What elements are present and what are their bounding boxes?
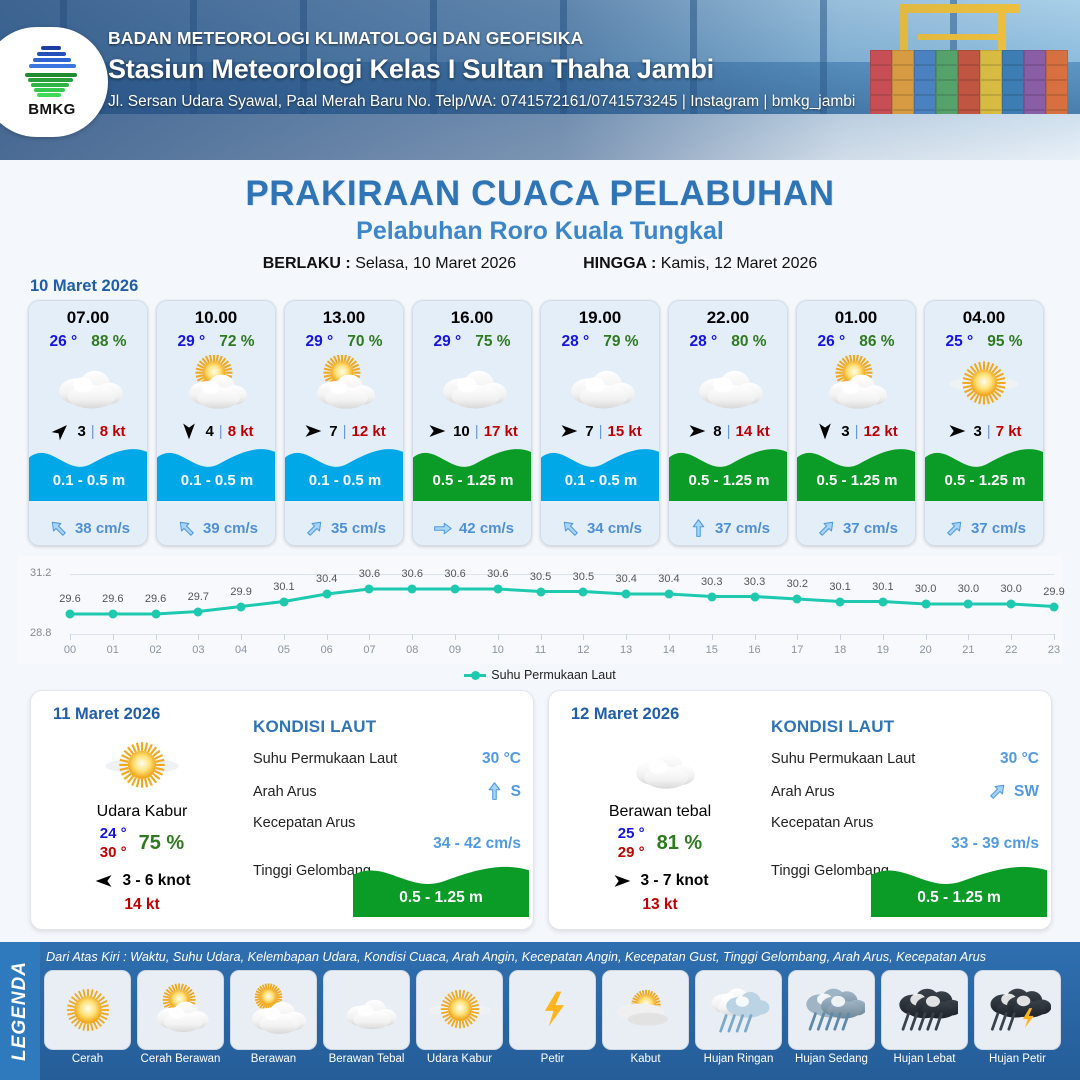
chart-value-label: 30.4 (658, 573, 679, 585)
chart-data-point (322, 590, 331, 599)
card-current-row: 37 cm/s (925, 518, 1044, 539)
page-title: PRAKIRAAN CUACA PELABUHAN (0, 174, 1080, 214)
header-text-block: BADAN METEOROLOGI KLIMATOLOGI DAN GEOFIS… (108, 28, 855, 111)
wind-direction-arrow-icon (302, 421, 324, 441)
wind-gust: 17 kt (484, 423, 518, 440)
day-forecast-panel: 12 Maret 2026 Berawan tebal 25 ° 29 ° 81… (548, 690, 1052, 930)
legend-item-label: Berawan (251, 1053, 296, 1065)
wind-speed: 3 (841, 423, 849, 440)
panel-sea-conditions: KONDISI LAUT Suhu Permukaan Laut 30 °C A… (771, 717, 1039, 879)
card-wind-row: 3 | 7 kt (925, 421, 1043, 441)
weather-cerah-berawan-icon (157, 355, 275, 413)
day-forecast-panel: 11 Maret 2026 Udara Kabur 24 ° 30 ° 75 %… (30, 690, 534, 930)
forecast-card: 16.00 29 ° 75 % 10 | 17 kt 0.5 - 1.25 m … (412, 300, 532, 546)
panel-temp-max: 30 ° (100, 844, 127, 861)
chart-value-label: 30.1 (872, 581, 893, 593)
forecast-card: 07.00 26 ° 88 % 3 | 8 kt 0.1 - 0.5 m 38 … (28, 300, 148, 546)
forecast-day-label: 10 Maret 2026 (30, 277, 138, 296)
legend-item-label: Petir (541, 1053, 565, 1065)
legenda-sidebar: LEGENDA (0, 942, 40, 1080)
chart-x-tick (926, 634, 927, 640)
panel-wind-range: 3 - 6 knot (122, 872, 190, 890)
legend-item: Hujan Sedang (788, 970, 875, 1070)
card-humidity: 95 % (987, 333, 1022, 351)
sst-value: 30 °C (1000, 750, 1039, 768)
forecast-card: 22.00 28 ° 80 % 8 | 14 kt 0.5 - 1.25 m 3… (668, 300, 788, 546)
sst-value: 30 °C (482, 750, 521, 768)
current-direction-arrow-icon (304, 518, 325, 539)
panel-temp-min: 24 ° (100, 825, 127, 842)
sst-chart: 31.228.829.60029.60129.60229.70329.90430… (18, 556, 1062, 664)
chart-x-tick (541, 634, 542, 640)
chart-legend: Suhu Permukaan Laut (0, 668, 1080, 682)
wave-height: 0.5 - 1.25 m (413, 472, 532, 489)
card-current-row: 38 cm/s (29, 518, 148, 539)
forecast-card: 10.00 29 ° 72 % 4 | 8 kt 0.1 - 0.5 m 39 … (156, 300, 276, 546)
chart-x-tick-label: 23 (1048, 644, 1060, 656)
wind-speed: 7 (329, 423, 337, 440)
current-direction-arrow-icon (944, 518, 965, 539)
card-humidity: 79 % (603, 333, 638, 351)
station-name: Stasiun Meteorologi Kelas I Sultan Thaha… (108, 54, 855, 85)
legend-item: Cerah Berawan (137, 970, 224, 1070)
sst-label: Suhu Permukaan Laut (253, 751, 397, 767)
panel-condition: Berawan tebal (565, 803, 755, 821)
page-header: BMKG BADAN METEOROLOGI KLIMATOLOGI DAN G… (0, 0, 1080, 160)
current-direction-arrow-icon (560, 518, 581, 539)
weather-berawan-icon (29, 355, 147, 413)
chart-value-label: 30.3 (744, 576, 765, 588)
current-direction-label: Arah Arus (771, 784, 835, 800)
chart-x-tick (327, 634, 328, 640)
current-speed: 37 cm/s (971, 520, 1026, 537)
chart-data-point (151, 610, 160, 619)
wind-speed: 8 (713, 423, 721, 440)
chart-x-tick (1011, 634, 1012, 640)
card-temp-humidity-row: 26 ° 88 % (29, 333, 147, 351)
chart-x-tick (583, 634, 584, 640)
card-wind-row: 7 | 12 kt (285, 421, 403, 441)
chart-x-tick (284, 634, 285, 640)
chart-x-tick (369, 634, 370, 640)
chart-data-point (451, 585, 460, 594)
chart-x-tick (840, 634, 841, 640)
chart-value-label: 30.1 (829, 581, 850, 593)
chart-data-point (836, 597, 845, 606)
chart-x-tick-label: 22 (1005, 644, 1017, 656)
legend-item: Hujan Petir (974, 970, 1061, 1070)
valid-until-value: Kamis, 12 Maret 2026 (661, 255, 818, 272)
wind-separator: | (475, 423, 479, 440)
chart-x-tick (241, 634, 242, 640)
chart-x-tick-label: 18 (834, 644, 846, 656)
wind-speed: 4 (205, 423, 213, 440)
current-speed: 34 cm/s (587, 520, 642, 537)
sst-row: Suhu Permukaan Laut 30 °C (253, 750, 521, 768)
card-temp-humidity-row: 28 ° 79 % (541, 333, 659, 351)
wind-gust: 12 kt (352, 423, 386, 440)
card-humidity: 86 % (859, 333, 894, 351)
current-speed-row: Kecepatan Arus 34 - 42 cm/s (253, 815, 521, 853)
card-current-row: 34 cm/s (541, 518, 660, 539)
wind-gust: 14 kt (736, 423, 770, 440)
panel-wind-row: 3 - 6 knot (47, 871, 237, 891)
chart-value-label: 30.5 (573, 571, 594, 583)
forecast-card: 01.00 26 ° 86 % 3 | 12 kt 0.5 - 1.25 m 3… (796, 300, 916, 546)
panel-temp-max: 29 ° (618, 844, 645, 861)
legend-item-label: Hujan Lebat (893, 1053, 955, 1065)
chart-x-tick-label: 04 (235, 644, 247, 656)
chart-value-label: 29.6 (59, 593, 80, 605)
chart-value-label: 29.9 (230, 586, 251, 598)
chart-x-tick-label: 01 (107, 644, 119, 656)
wind-separator: | (219, 423, 223, 440)
card-temperature: 29 ° (177, 333, 205, 351)
chart-x-tick-label: 19 (877, 644, 889, 656)
card-temperature: 26 ° (49, 333, 77, 351)
chart-value-label: 29.7 (188, 591, 209, 603)
legend-item-label: Hujan Petir (989, 1053, 1046, 1065)
legend-note: Dari Atas Kiri : Waktu, Suhu Udara, Kele… (46, 950, 1072, 964)
chart-data-point (408, 585, 417, 594)
legend-item-label: Cerah Berawan (141, 1053, 221, 1065)
chart-x-tick-label: 02 (149, 644, 161, 656)
chart-value-label: 29.9 (1043, 586, 1064, 598)
legend-item: Berawan (230, 970, 317, 1070)
weather-hujan-lebat-icon (881, 970, 968, 1050)
current-speed-label: Kecepatan Arus (253, 815, 355, 831)
wind-gust: 7 kt (996, 423, 1022, 440)
chart-x-tick-label: 21 (962, 644, 974, 656)
wind-speed: 10 (453, 423, 470, 440)
chart-x-tick-label: 10 (492, 644, 504, 656)
card-wind-row: 7 | 15 kt (541, 421, 659, 441)
title-block: PRAKIRAAN CUACA PELABUHAN Pelabuhan Roro… (0, 160, 1080, 273)
legend-item-list: Cerah Cerah Berawan Berawan Berawan (44, 970, 1076, 1070)
card-current-row: 42 cm/s (413, 518, 532, 539)
chart-x-tick (712, 634, 713, 640)
weather-kabut-icon (602, 970, 689, 1050)
panel-date: 12 Maret 2026 (571, 705, 679, 724)
chart-x-tick (883, 634, 884, 640)
current-speed-value: 33 - 39 cm/s (771, 835, 1039, 853)
chart-x-tick-label: 13 (620, 644, 632, 656)
forecast-card: 19.00 28 ° 79 % 7 | 15 kt 0.1 - 0.5 m 34… (540, 300, 660, 546)
card-current-row: 39 cm/s (157, 518, 276, 539)
chart-x-tick-label: 17 (791, 644, 803, 656)
card-time: 16.00 (413, 308, 531, 328)
wind-speed: 3 (77, 423, 85, 440)
chart-data-point (194, 607, 203, 616)
chart-legend-label: Suhu Permukaan Laut (491, 668, 615, 682)
current-direction-arrow-icon (484, 781, 505, 802)
wind-separator: | (727, 423, 731, 440)
panel-date: 11 Maret 2026 (53, 705, 160, 724)
card-temperature: 28 ° (561, 333, 589, 351)
agency-name: BADAN METEOROLOGI KLIMATOLOGI DAN GEOFIS… (108, 28, 855, 49)
card-humidity: 88 % (91, 333, 126, 351)
bmkg-logo-mark (23, 46, 81, 98)
chart-data-point (750, 592, 759, 601)
chart-x-tick (1054, 634, 1055, 640)
card-temperature: 29 ° (433, 333, 461, 351)
panel-humidity: 81 % (657, 832, 703, 855)
wind-direction-arrow-icon (686, 421, 708, 441)
chart-value-label: 30.6 (402, 568, 423, 580)
chart-x-tick-label: 20 (920, 644, 932, 656)
sst-row: Suhu Permukaan Laut 30 °C (771, 750, 1039, 768)
chart-data-point (66, 610, 75, 619)
wave-height: 0.5 - 1.25 m (797, 472, 916, 489)
card-temp-humidity-row: 28 ° 80 % (669, 333, 787, 351)
weather-berawan-tebal-icon (323, 970, 410, 1050)
wind-separator: | (855, 423, 859, 440)
chart-data-point (237, 602, 246, 611)
chart-x-tick (113, 634, 114, 640)
sst-label: Suhu Permukaan Laut (771, 751, 915, 767)
card-humidity: 75 % (475, 333, 510, 351)
chart-value-label: 30.0 (915, 583, 936, 595)
chart-x-tick-label: 11 (535, 644, 546, 656)
panel-sea-conditions: KONDISI LAUT Suhu Permukaan Laut 30 °C A… (253, 717, 521, 879)
chart-x-tick (626, 634, 627, 640)
wave-graphic (669, 439, 788, 501)
chart-data-point (279, 597, 288, 606)
card-temp-humidity-row: 25 ° 95 % (925, 333, 1043, 351)
card-temp-humidity-row: 29 ° 75 % (413, 333, 531, 351)
wind-gust: 8 kt (100, 423, 126, 440)
chart-x-tick-label: 16 (748, 644, 760, 656)
chart-x-tick-label: 09 (449, 644, 461, 656)
panel-wave-height: 0.5 - 1.25 m (353, 889, 529, 907)
card-temperature: 29 ° (305, 333, 333, 351)
chart-x-tick (797, 634, 798, 640)
chart-x-tick-label: 05 (278, 644, 290, 656)
chart-value-label: 30.6 (359, 568, 380, 580)
chart-x-tick-label: 14 (663, 644, 675, 656)
chart-value-label: 30.6 (487, 568, 508, 580)
wind-direction-arrow-icon (611, 871, 633, 891)
current-direction-arrow-icon (987, 781, 1008, 802)
chart-data-point (1007, 600, 1016, 609)
wind-direction-arrow-icon (93, 871, 115, 891)
sea-conditions-title: KONDISI LAUT (771, 717, 1039, 737)
weather-cerah-berawan-icon (137, 970, 224, 1050)
panel-wave-graphic (871, 857, 1047, 917)
chart-x-tick (498, 634, 499, 640)
chart-legend-swatch (464, 674, 486, 677)
current-direction-label: Arah Arus (253, 784, 317, 800)
panel-gust: 13 kt (565, 896, 755, 914)
weather-berawan-tebal-icon (565, 735, 755, 797)
wind-separator: | (91, 423, 95, 440)
chart-value-label: 30.3 (701, 576, 722, 588)
legend-item: Hujan Lebat (881, 970, 968, 1070)
wind-speed: 3 (973, 423, 981, 440)
card-time: 22.00 (669, 308, 787, 328)
chart-data-point (921, 600, 930, 609)
legend-item-label: Cerah (72, 1053, 103, 1065)
card-temp-humidity-row: 29 ° 70 % (285, 333, 403, 351)
card-temperature: 25 ° (945, 333, 973, 351)
chart-x-tick-label: 12 (577, 644, 589, 656)
wave-graphic (285, 439, 404, 501)
panel-summary: Udara Kabur 24 ° 30 ° 75 % 3 - 6 knot 14… (47, 735, 237, 914)
current-direction-row: Arah Arus SW (771, 781, 1039, 802)
bmkg-logo-text: BMKG (28, 101, 75, 118)
panel-temp-humidity: 24 ° 30 ° 75 % (47, 825, 237, 861)
chart-x-tick (156, 634, 157, 640)
card-time: 01.00 (797, 308, 915, 328)
current-speed: 38 cm/s (75, 520, 130, 537)
current-direction-value: S (484, 781, 521, 802)
chart-data-point (493, 585, 502, 594)
chart-data-point (622, 590, 631, 599)
card-wind-row: 8 | 14 kt (669, 421, 787, 441)
card-temp-humidity-row: 26 ° 86 % (797, 333, 915, 351)
legend-item: Udara Kabur (416, 970, 503, 1070)
legenda-label: LEGENDA (9, 961, 31, 1061)
day-panel-list: 11 Maret 2026 Udara Kabur 24 ° 30 ° 75 %… (30, 690, 1052, 930)
weather-petir-icon (509, 970, 596, 1050)
panel-gust: 14 kt (47, 896, 237, 914)
wave-height: 0.1 - 0.5 m (541, 472, 660, 489)
wind-gust: 15 kt (608, 423, 642, 440)
chart-x-tick-label: 00 (64, 644, 76, 656)
page-subtitle: Pelabuhan Roro Kuala Tungkal (0, 217, 1080, 246)
legend-item-label: Kabut (630, 1053, 660, 1065)
chart-x-tick (198, 634, 199, 640)
card-wind-row: 10 | 17 kt (413, 421, 531, 441)
card-humidity: 72 % (219, 333, 254, 351)
legend-item-label: Berawan Tebal (329, 1053, 405, 1065)
current-speed-label: Kecepatan Arus (771, 815, 873, 831)
weather-hujan-ringan-icon (695, 970, 782, 1050)
forecast-card: 13.00 29 ° 70 % 7 | 12 kt 0.1 - 0.5 m 35… (284, 300, 404, 546)
wave-graphic (413, 439, 532, 501)
legend-item-label: Hujan Sedang (795, 1053, 868, 1065)
card-time: 10.00 (157, 308, 275, 328)
chart-value-label: 30.1 (273, 581, 294, 593)
panel-condition: Udara Kabur (47, 803, 237, 821)
wind-gust: 12 kt (864, 423, 898, 440)
valid-until-label: HINGGA : (583, 255, 656, 272)
legend-item: Kabut (602, 970, 689, 1070)
validity-row: BERLAKU : Selasa, 10 Maret 2026 HINGGA :… (0, 255, 1080, 273)
card-temperature: 26 ° (817, 333, 845, 351)
current-direction-arrow-icon (816, 518, 837, 539)
weather-berawan-icon (541, 355, 659, 413)
chart-value-label: 30.4 (316, 573, 337, 585)
card-current-row: 37 cm/s (669, 518, 788, 539)
wave-graphic (925, 439, 1044, 501)
chart-x-tick (412, 634, 413, 640)
card-current-row: 37 cm/s (797, 518, 916, 539)
current-speed: 39 cm/s (203, 520, 258, 537)
card-humidity: 80 % (731, 333, 766, 351)
wind-direction-arrow-icon (178, 421, 200, 441)
chart-value-label: 30.6 (444, 568, 465, 580)
card-wind-row: 3 | 12 kt (797, 421, 915, 441)
wave-graphic (541, 439, 660, 501)
panel-temp-min: 25 ° (618, 825, 645, 842)
wind-direction-arrow-icon (814, 421, 836, 441)
chart-x-tick (70, 634, 71, 640)
legend-item-label: Hujan Ringan (704, 1053, 774, 1065)
wind-speed: 7 (585, 423, 593, 440)
weather-udara-kabur-icon (416, 970, 503, 1050)
panel-wind-row: 3 - 7 knot (565, 871, 755, 891)
chart-data-point (108, 610, 117, 619)
chart-data-point (1050, 602, 1059, 611)
card-time: 19.00 (541, 308, 659, 328)
wind-direction-arrow-icon (558, 421, 580, 441)
chart-data-point (793, 595, 802, 604)
current-direction-value: SW (987, 781, 1039, 802)
valid-from-label: BERLAKU : (263, 255, 351, 272)
wind-separator: | (343, 423, 347, 440)
chart-value-label: 30.2 (787, 578, 808, 590)
current-speed-value: 34 - 42 cm/s (253, 835, 521, 853)
chart-value-label: 29.6 (102, 593, 123, 605)
weather-hujan-petir-icon (974, 970, 1061, 1050)
chart-x-tick-label: 08 (406, 644, 418, 656)
chart-x-tick (755, 634, 756, 640)
card-current-row: 35 cm/s (285, 518, 404, 539)
current-speed-row: Kecepatan Arus 33 - 39 cm/s (771, 815, 1039, 853)
panel-wave-height: 0.5 - 1.25 m (871, 889, 1047, 907)
wave-graphic (157, 439, 276, 501)
wind-gust: 8 kt (228, 423, 254, 440)
chart-value-label: 30.0 (958, 583, 979, 595)
wave-graphic (797, 439, 916, 501)
weather-berawan-sun-icon (230, 970, 317, 1050)
current-speed: 42 cm/s (459, 520, 514, 537)
chart-data-point (878, 597, 887, 606)
valid-from-value: Selasa, 10 Maret 2026 (355, 255, 516, 272)
legend-item: Hujan Ringan (695, 970, 782, 1070)
card-time: 07.00 (29, 308, 147, 328)
weather-cerah-berawan-icon (285, 355, 403, 413)
station-address: Jl. Sersan Udara Syawal, Paal Merah Baru… (108, 93, 855, 111)
chart-value-label: 30.4 (615, 573, 636, 585)
legend-item: Berawan Tebal (323, 970, 410, 1070)
current-direction-row: Arah Arus S (253, 781, 521, 802)
forecast-card: 04.00 25 ° 95 % 3 | 7 kt 0.5 - 1.25 m 37… (924, 300, 1044, 546)
chart-data-point (707, 592, 716, 601)
chart-data-point (365, 585, 374, 594)
panel-summary: Berawan tebal 25 ° 29 ° 81 % 3 - 7 knot … (565, 735, 755, 914)
card-temp-humidity-row: 29 ° 72 % (157, 333, 275, 351)
card-time: 13.00 (285, 308, 403, 328)
wave-height: 0.1 - 0.5 m (157, 472, 276, 489)
chart-x-tick-label: 06 (321, 644, 333, 656)
current-direction-arrow-icon (688, 518, 709, 539)
card-humidity: 70 % (347, 333, 382, 351)
chart-x-tick (968, 634, 969, 640)
current-speed: 35 cm/s (331, 520, 386, 537)
sea-conditions-title: KONDISI LAUT (253, 717, 521, 737)
weather-berawan-icon (669, 355, 787, 413)
legend-footer: LEGENDA Dari Atas Kiri : Waktu, Suhu Uda… (0, 942, 1080, 1080)
forecast-card-list: 07.00 26 ° 88 % 3 | 8 kt 0.1 - 0.5 m 38 … (28, 300, 1054, 546)
chart-x-tick-label: 03 (192, 644, 204, 656)
chart-data-point (964, 600, 973, 609)
chart-x-tick (669, 634, 670, 640)
panel-wind-range: 3 - 7 knot (640, 872, 708, 890)
chart-data-point (536, 587, 545, 596)
chart-value-label: 29.6 (145, 593, 166, 605)
